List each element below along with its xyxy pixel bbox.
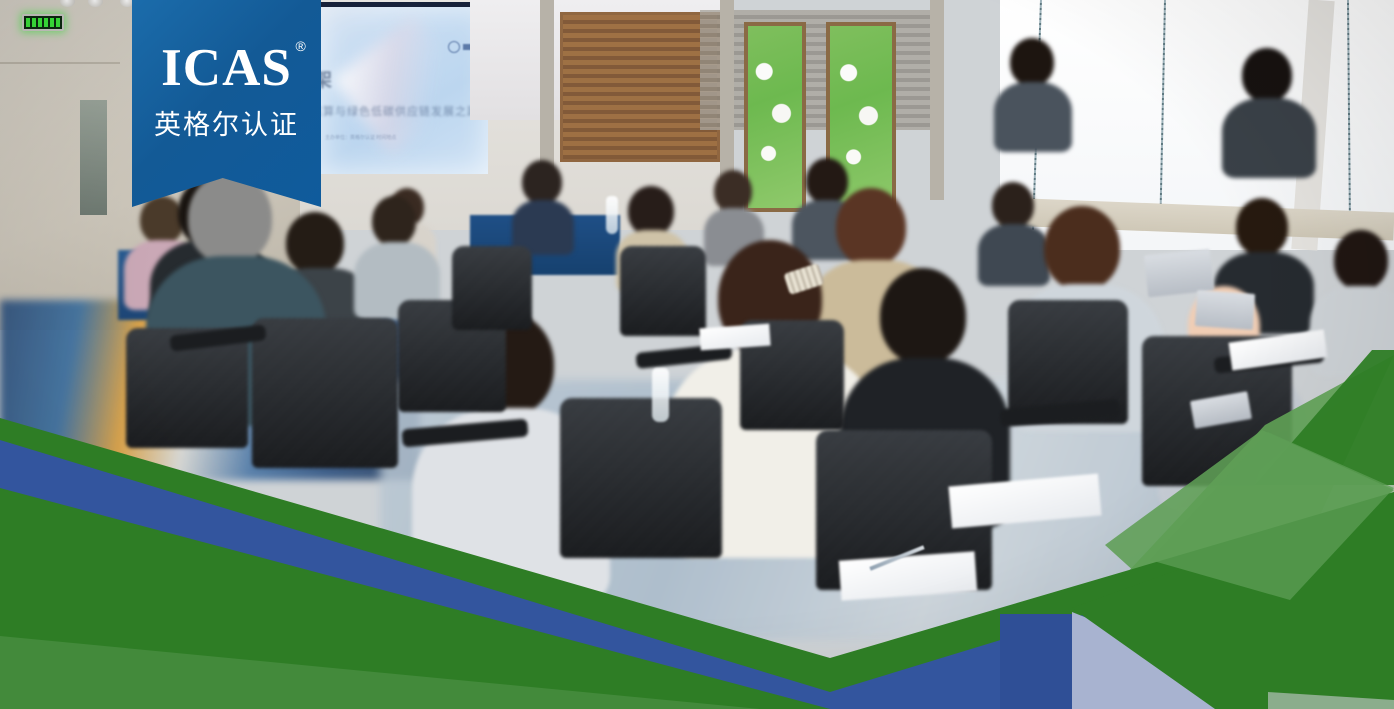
water-bottle: [652, 368, 669, 422]
wall-post: [540, 0, 554, 180]
projector-screen: 架 核算与绿色低碳供应链发展之路 主办单位：英格尔认证 时间地点: [318, 2, 488, 174]
slide-subtitle: 核算与绿色低碳供应链发展之路: [311, 103, 479, 119]
door: [80, 100, 107, 215]
window-mullion: [1159, 0, 1166, 230]
wall-post: [930, 0, 944, 200]
wall-trim-line: [0, 62, 120, 64]
icas-chinese-name: 英格尔认证: [154, 103, 299, 142]
window-blinds-right: [700, 10, 940, 130]
chair: [620, 246, 706, 336]
icas-logo-badge: ICAS ® 英格尔认证: [132, 0, 321, 207]
tablet-device: [1195, 290, 1255, 330]
emergency-exit-sign: [22, 14, 64, 31]
water-bottle: [606, 196, 618, 234]
chair: [252, 318, 398, 468]
registered-trademark-icon: ®: [296, 38, 306, 54]
banner-canvas: 架 核算与绿色低碳供应链发展之路 主办单位：英格尔认证 时间地点: [0, 0, 1394, 709]
icas-wordmark: ICAS: [161, 39, 292, 97]
slide-fine-print: 主办单位：英格尔认证 时间地点: [325, 135, 396, 142]
chair: [560, 398, 722, 558]
chair: [452, 246, 532, 330]
window-blinds-left: [560, 12, 720, 162]
wall-painting: [744, 22, 806, 212]
